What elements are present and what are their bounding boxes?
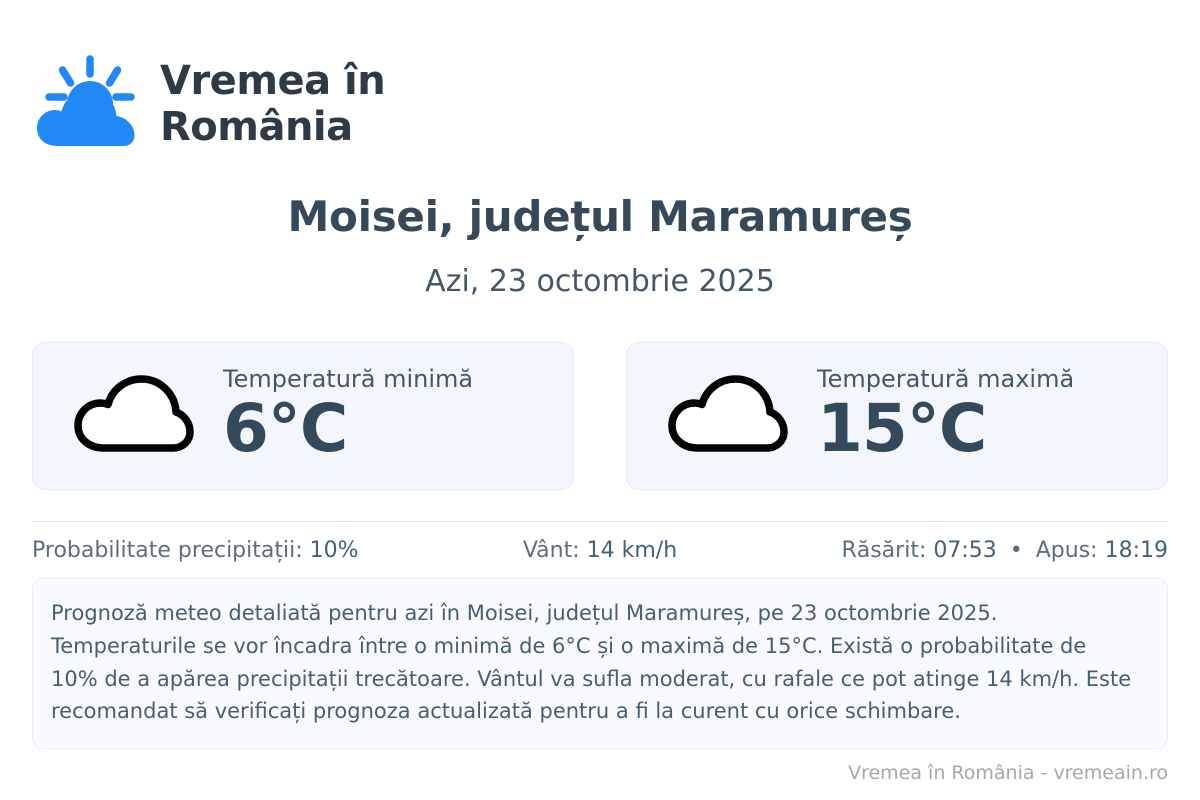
max-temperature-value: 15°C bbox=[817, 393, 986, 464]
sunrise-label: Răsărit: bbox=[841, 538, 926, 563]
sunrise-value: 07:53 bbox=[933, 538, 996, 563]
temperature-cards: Temperatură minimă 6°C Temperatură maxim… bbox=[32, 342, 1168, 490]
brand-name: Vremea în România bbox=[160, 58, 385, 150]
sun-times-stat: Răsărit: 07:53 • Apus: 18:19 bbox=[841, 538, 1168, 563]
sunset-label: Apus: bbox=[1036, 538, 1098, 563]
cloud-icon bbox=[71, 371, 197, 461]
min-temperature-card: Temperatură minimă 6°C bbox=[32, 342, 574, 490]
sun-behind-cloud-icon bbox=[34, 54, 142, 154]
precipitation-label: Probabilitate precipitații: bbox=[32, 538, 303, 563]
min-temperature-value: 6°C bbox=[223, 393, 347, 464]
footer-credit: Vremea în România - vremeain.ro bbox=[0, 762, 1168, 784]
stats-divider bbox=[32, 521, 1168, 522]
min-temperature-text: Temperatură minimă 6°C bbox=[223, 367, 473, 464]
page-subtitle: Azi, 23 octombrie 2025 bbox=[0, 264, 1200, 299]
cloud-icon bbox=[665, 371, 791, 461]
max-temperature-card: Temperatură maximă 15°C bbox=[626, 342, 1168, 490]
precipitation-stat: Probabilitate precipitații: 10% bbox=[32, 538, 359, 563]
brand-header: Vremea în România bbox=[34, 54, 385, 154]
wind-value: 14 km/h bbox=[587, 538, 678, 563]
stats-row: Probabilitate precipitații: 10% Vânt: 14… bbox=[32, 538, 1168, 563]
min-temperature-label: Temperatură minimă bbox=[223, 367, 473, 391]
wind-stat: Vânt: 14 km/h bbox=[359, 538, 842, 563]
forecast-description-text: Prognoză meteo detaliată pentru azi în M… bbox=[51, 597, 1139, 728]
wind-label: Vânt: bbox=[523, 538, 580, 563]
weather-page: Vremea în România Moisei, județul Maramu… bbox=[0, 0, 1200, 800]
max-temperature-label: Temperatură maximă bbox=[817, 367, 1074, 391]
page-title: Moisei, județul Maramureș bbox=[0, 192, 1200, 241]
precipitation-value: 10% bbox=[310, 538, 359, 563]
sunset-value: 18:19 bbox=[1105, 538, 1168, 563]
sun-times-separator: • bbox=[1004, 538, 1029, 563]
max-temperature-text: Temperatură maximă 15°C bbox=[817, 367, 1074, 464]
forecast-description-box: Prognoză meteo detaliată pentru azi în M… bbox=[32, 578, 1168, 749]
